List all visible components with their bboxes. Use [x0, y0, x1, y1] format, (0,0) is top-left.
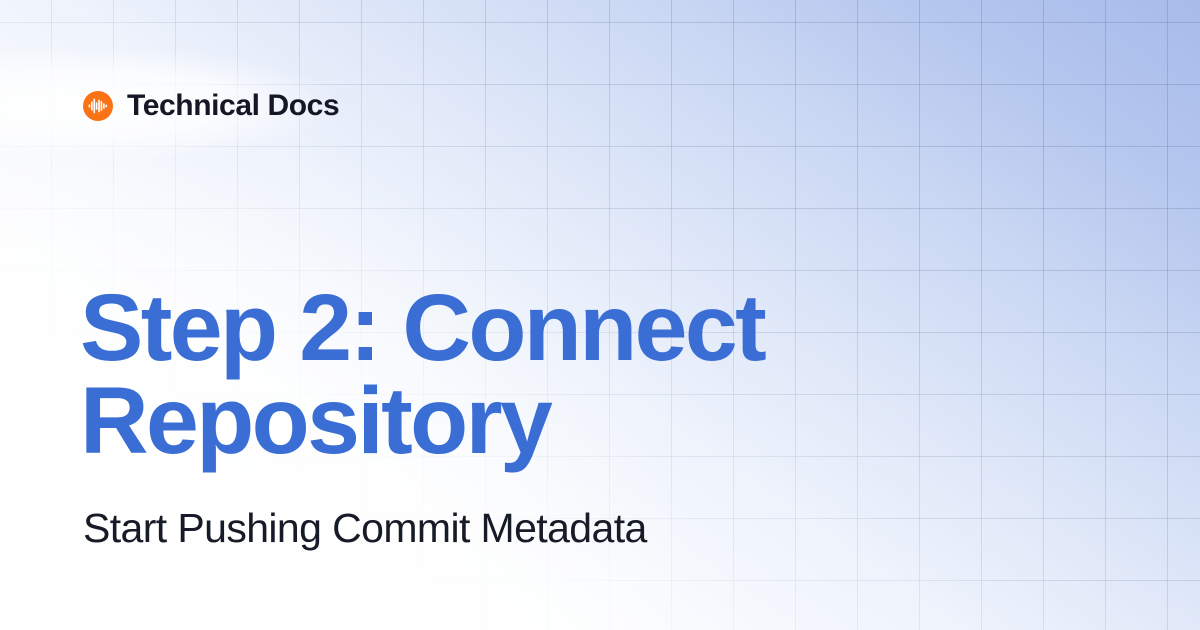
brand-name-label: Technical Docs	[127, 91, 339, 121]
brand-lockup: Technical Docs	[83, 86, 339, 126]
page-subtitle: Start Pushing Commit Metadata	[83, 505, 647, 552]
banner-content: Technical Docs Step 2: Connect Repositor…	[0, 0, 1200, 630]
page-title: Step 2: Connect Repository	[80, 282, 900, 468]
audio-waveform-icon	[83, 91, 113, 121]
banner-canvas: Technical Docs Step 2: Connect Repositor…	[0, 0, 1200, 630]
